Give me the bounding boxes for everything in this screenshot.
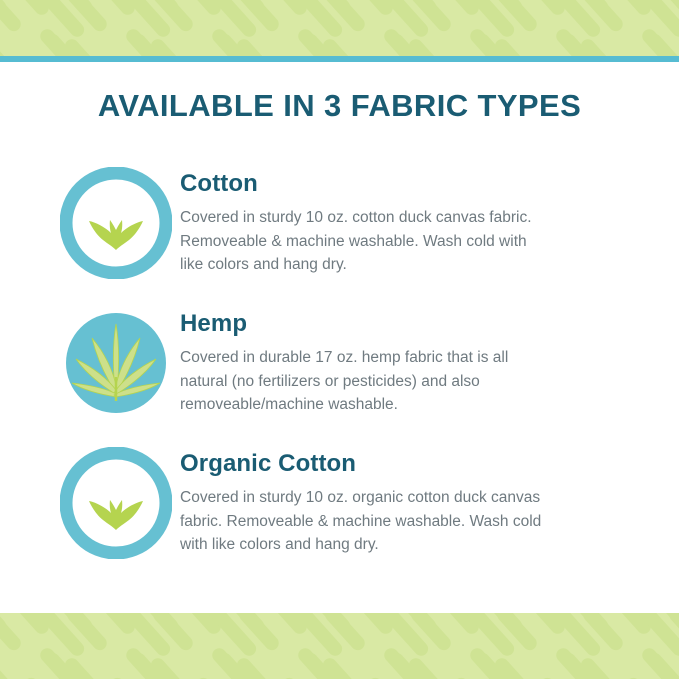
top-band-background (0, 0, 679, 57)
cotton-boll-icon-wrap (0, 165, 122, 279)
list-item: Organic Cotton Covered in sturdy 10 oz. … (0, 445, 679, 559)
bottom-band-background (0, 619, 679, 679)
bottom-decorative-band (0, 613, 679, 679)
list-item: Hemp Covered in durable 17 oz. hemp fabr… (0, 305, 679, 419)
top-band-pattern (0, 0, 679, 62)
item-title: Cotton (180, 171, 562, 197)
top-teal-rule (0, 56, 679, 62)
infographic-page: AVAILABLE IN 3 FABRIC TYPES Cotton Cover… (0, 0, 679, 679)
item-description: Covered in sturdy 10 oz. cotton duck can… (180, 206, 550, 276)
item-description: Covered in durable 17 oz. hemp fabric th… (180, 346, 550, 416)
fabric-type-list: Cotton Covered in sturdy 10 oz. cotton d… (0, 165, 679, 585)
cotton-text-block: Cotton Covered in sturdy 10 oz. cotton d… (122, 165, 562, 276)
list-item: Cotton Covered in sturdy 10 oz. cotton d… (0, 165, 679, 279)
item-description: Covered in sturdy 10 oz. organic cotton … (180, 486, 550, 556)
top-decorative-band (0, 0, 679, 62)
organic-cotton-boll-icon-wrap (0, 445, 122, 559)
page-title: AVAILABLE IN 3 FABRIC TYPES (0, 88, 679, 124)
hemp-text-block: Hemp Covered in durable 17 oz. hemp fabr… (122, 305, 562, 416)
hemp-leaf-icon-wrap (0, 305, 122, 419)
bottom-band-pattern (0, 613, 679, 679)
item-title: Hemp (180, 311, 562, 337)
organic-cotton-text-block: Organic Cotton Covered in sturdy 10 oz. … (122, 445, 562, 556)
item-title: Organic Cotton (180, 451, 562, 477)
